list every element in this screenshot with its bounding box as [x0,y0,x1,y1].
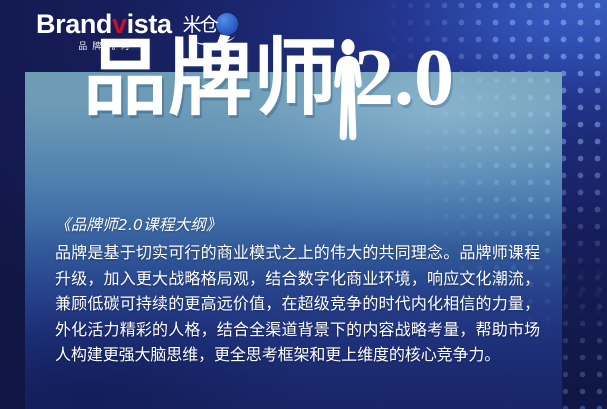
brand-logo[interactable]: Brandvista 品牌几何 米仓 [36,11,239,51]
course-outline-block: 《品牌师2.0课程大纲》 品牌是基于切实可行的商业模式之上的伟大的共同理念。品牌… [25,213,562,368]
poster-canvas: Brandvista 品牌几何 米仓 品牌师 2.0 [0,0,607,409]
brand-cn-mark: 米仓 [183,13,239,47]
brand-wordmark-text: Brandvista [36,11,172,38]
brand-wordmark-accent-letter: v [112,9,127,39]
brand-wordmark-pre: Brand [36,9,112,39]
course-outline-paragraph: 品牌是基于切实可行的商业模式之上的伟大的共同理念。品牌师课程升级，加入更大战略格… [55,240,540,368]
brand-swoosh-icon [194,30,235,47]
brand-wordmark-post: ista [127,9,172,39]
course-outline-title: 《品牌师2.0课程大纲》 [55,213,540,238]
brand-tagline: 品牌几何 [73,42,134,51]
brand-wordmark: Brandvista 品牌几何 [36,11,172,51]
header-bar: Brandvista 品牌几何 米仓 [0,0,607,72]
